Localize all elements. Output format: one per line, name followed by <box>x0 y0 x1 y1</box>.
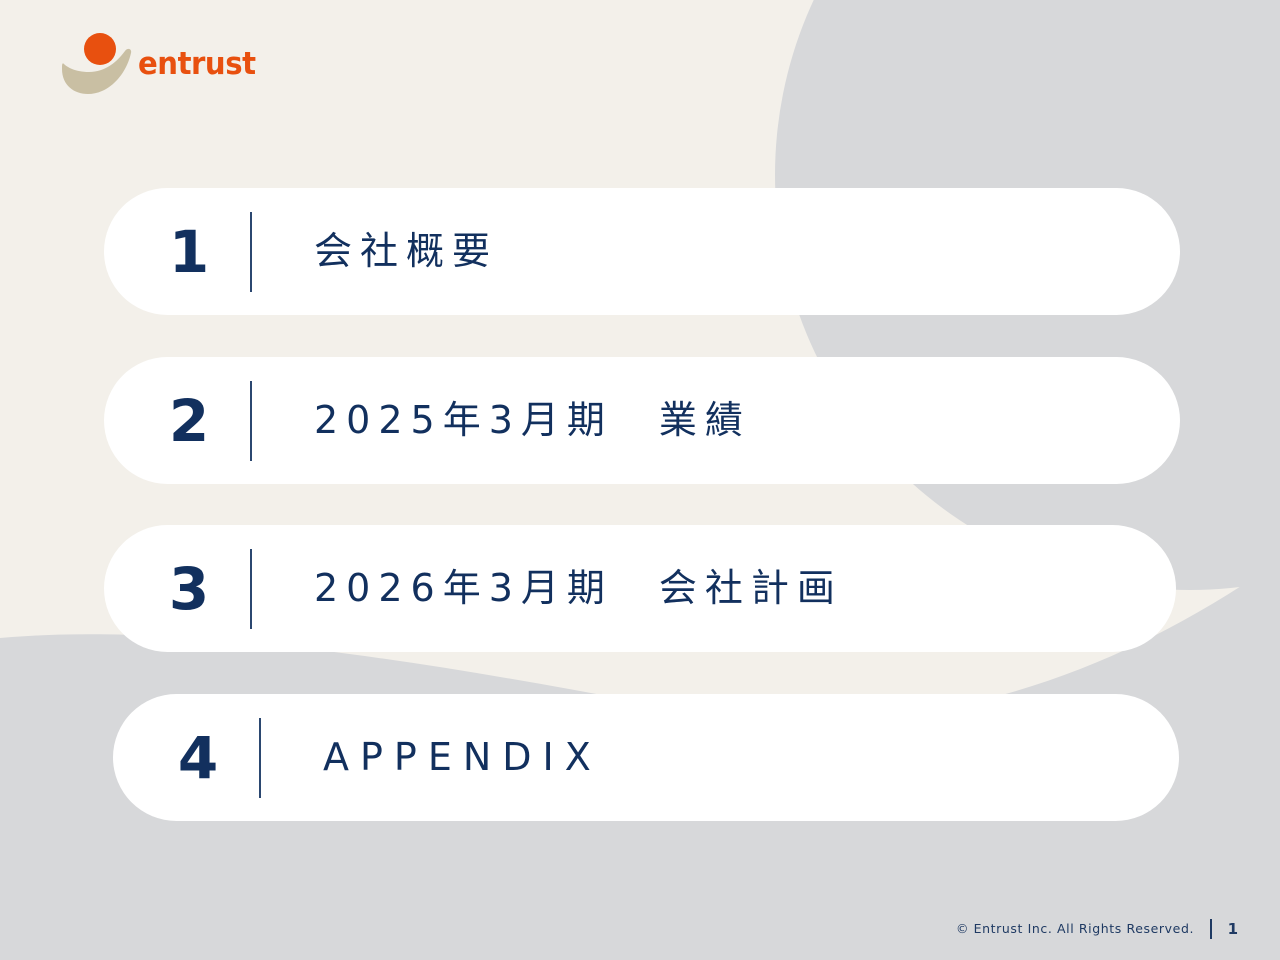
agenda-slide: entrust 1 会社概要 2 2025年3月期 業績 3 2026年3月期 … <box>0 0 1280 960</box>
agenda-item-3-label: 2026年3月期 会社計画 <box>314 568 843 610</box>
agenda-item-3-number: 3 <box>104 560 222 618</box>
page-number: 1 <box>1228 922 1238 937</box>
agenda-item-2-divider <box>250 381 252 461</box>
agenda-item-3[interactable]: 3 2026年3月期 会社計画 <box>104 525 1176 652</box>
agenda-item-4-label: APPENDIX <box>323 737 602 779</box>
agenda-item-2-number: 2 <box>104 392 222 450</box>
agenda-item-1-label: 会社概要 <box>314 231 498 273</box>
footer-divider <box>1210 919 1212 939</box>
agenda-item-4-divider <box>259 718 261 798</box>
agenda-list: 1 会社概要 2 2025年3月期 業績 3 2026年3月期 会社計画 4 A… <box>0 0 1280 960</box>
agenda-item-4[interactable]: 4 APPENDIX <box>113 694 1179 821</box>
agenda-item-4-number: 4 <box>113 729 231 787</box>
agenda-item-2[interactable]: 2 2025年3月期 業績 <box>104 357 1180 484</box>
agenda-item-1[interactable]: 1 会社概要 <box>104 188 1180 315</box>
agenda-item-1-number: 1 <box>104 223 222 281</box>
agenda-item-3-divider <box>250 549 252 629</box>
copyright-text: © Entrust Inc. All Rights Reserved. <box>956 923 1194 936</box>
agenda-item-2-label: 2025年3月期 業績 <box>314 400 751 442</box>
agenda-item-1-divider <box>250 212 252 292</box>
slide-footer: © Entrust Inc. All Rights Reserved. 1 <box>956 916 1238 942</box>
